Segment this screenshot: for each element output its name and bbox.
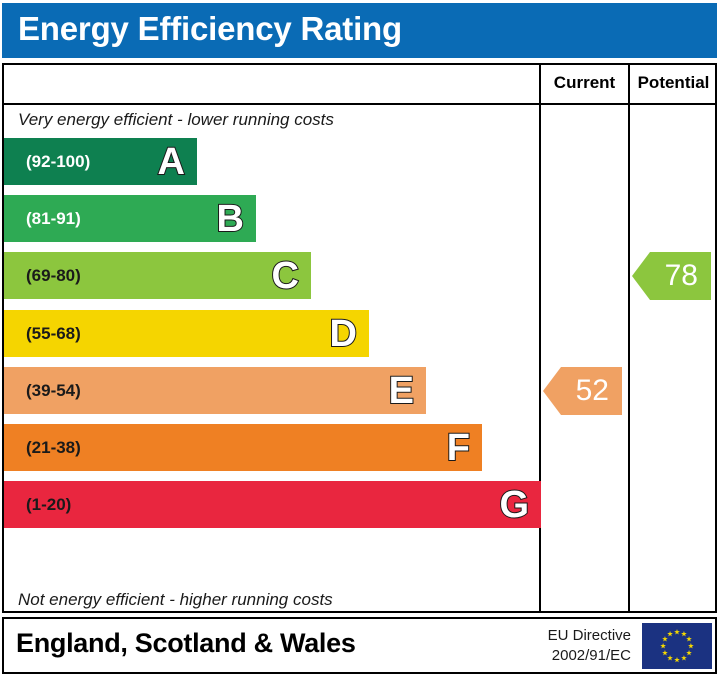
band-range-b: (81-91) — [26, 209, 81, 229]
caption-efficient: Very energy efficient - lower running co… — [18, 110, 334, 130]
band-range-c: (69-80) — [26, 266, 81, 286]
caption-inefficient: Not energy efficient - higher running co… — [18, 590, 333, 610]
band-letter-b: B — [217, 200, 244, 238]
band-b: (81-91)B — [4, 195, 256, 242]
header-divider — [2, 103, 717, 105]
band-letter-g: G — [499, 486, 529, 524]
band-range-a: (92-100) — [26, 152, 90, 172]
band-g: (1-20)G — [4, 481, 541, 528]
current-rating-value: 52 — [576, 376, 622, 406]
band-letter-c: C — [272, 257, 299, 295]
band-f: (21-38)F — [4, 424, 482, 471]
eu-directive-text: EU Directive 2002/91/EC — [521, 626, 631, 666]
column-header-potential: Potential — [630, 73, 717, 93]
band-e: (39-54)E — [4, 367, 426, 414]
band-range-g: (1-20) — [26, 495, 71, 515]
column-header-current: Current — [541, 73, 628, 93]
potential-rating-value: 78 — [665, 261, 711, 291]
band-a: (92-100)A — [4, 138, 197, 185]
band-c: (69-80)C — [4, 252, 311, 299]
band-letter-e: E — [389, 372, 414, 410]
band-range-d: (55-68) — [26, 324, 81, 344]
potential-column-divider — [628, 63, 630, 613]
eu-flag-icon — [641, 622, 713, 670]
epc-chart: Energy Efficiency Rating Current Potenti… — [0, 0, 719, 676]
band-d: (55-68)D — [4, 310, 369, 357]
page-title: Energy Efficiency Rating — [18, 10, 402, 48]
eu-directive-line1: EU Directive — [521, 626, 631, 646]
eu-directive-line2: 2002/91/EC — [521, 646, 631, 666]
band-letter-f: F — [447, 429, 470, 467]
band-range-f: (21-38) — [26, 438, 81, 458]
band-range-e: (39-54) — [26, 381, 81, 401]
band-letter-d: D — [330, 315, 357, 353]
footer-regions: England, Scotland & Wales — [16, 628, 356, 659]
current-column-divider — [539, 63, 541, 613]
title-bar: Energy Efficiency Rating — [2, 3, 717, 58]
band-letter-a: A — [158, 143, 185, 181]
